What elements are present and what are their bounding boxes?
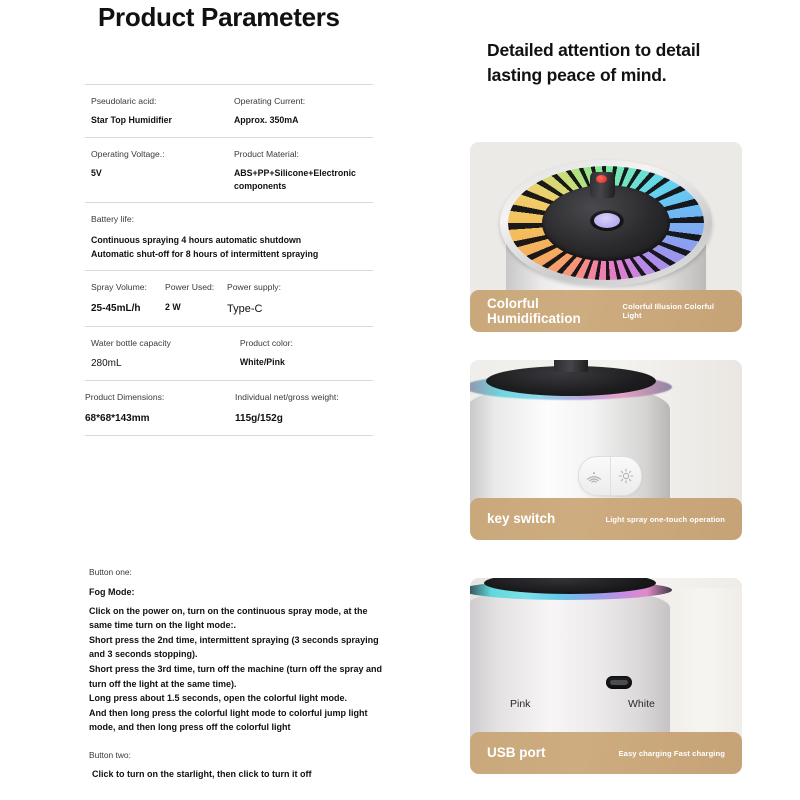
spec-cell: Product color: White/Pink bbox=[228, 337, 373, 371]
spec-label: Water bottle capacity bbox=[91, 337, 228, 349]
light-button[interactable] bbox=[610, 457, 642, 495]
feature-card-colorful-humidification: Colorful Humidification Colorful Illusio… bbox=[470, 142, 742, 332]
spec-label: Pseudolaric acid: bbox=[91, 95, 234, 107]
caption-title: Colorful Humidification bbox=[487, 296, 623, 326]
spec-row: Operating Voltage.: 5V Product Material:… bbox=[85, 137, 373, 203]
card-caption: USB port Easy charging Fast charging bbox=[470, 732, 742, 774]
spec-value: Automatic shut-off for 8 hours of interm… bbox=[91, 247, 373, 261]
light-icon bbox=[618, 468, 634, 484]
caption-subtitle: Easy charging Fast charging bbox=[618, 749, 725, 758]
spec-cell: Operating Current: Approx. 350mA bbox=[234, 95, 373, 128]
spec-label: Power Used: bbox=[165, 281, 227, 293]
spec-label: Operating Voltage.: bbox=[91, 148, 234, 160]
spec-value: Star Top Humidifier bbox=[91, 114, 234, 127]
spec-label: Product Dimensions: bbox=[85, 391, 235, 403]
spec-cell: Individual net/gross weight: 115g/152g bbox=[235, 391, 373, 425]
spec-label: Spray Volume: bbox=[91, 281, 165, 293]
headline: Detailed attention to detail lasting pea… bbox=[487, 38, 749, 88]
spec-row: Spray Volume: 25-45mL/h Power Used: 2 W … bbox=[85, 270, 373, 326]
card-caption: Colorful Humidification Colorful Illusio… bbox=[470, 290, 742, 332]
fog-mode-label: Fog Mode: bbox=[89, 587, 389, 597]
mist-icon bbox=[585, 470, 603, 483]
color-label-pink: Pink bbox=[510, 698, 530, 710]
spec-value: 5V bbox=[91, 167, 234, 180]
spec-label: Power supply: bbox=[227, 281, 327, 293]
spec-cell: Pseudolaric acid: Star Top Humidifier bbox=[85, 95, 234, 128]
card-caption: key switch Light spray one-touch operati… bbox=[470, 498, 742, 540]
spec-cell: Power Used: 2 W bbox=[165, 281, 227, 317]
mist-outlet bbox=[590, 210, 624, 231]
spec-value: 25-45mL/h bbox=[91, 301, 165, 316]
power-indicator-dot bbox=[596, 175, 607, 183]
instruction-line: Long press about 1.5 seconds, open the c… bbox=[89, 691, 389, 706]
instruction-line: Short press the 2nd time, intermittent s… bbox=[89, 633, 389, 662]
spec-label: Individual net/gross weight: bbox=[235, 391, 373, 403]
spec-value: 280mL bbox=[91, 356, 228, 371]
spec-value: 115g/152g bbox=[235, 411, 373, 426]
control-button-pill[interactable] bbox=[578, 456, 642, 496]
spec-value: Approx. 350mA bbox=[234, 114, 373, 127]
spec-table-bottom-rule bbox=[85, 435, 373, 436]
feature-card-key-switch: key switch Light spray one-touch operati… bbox=[470, 360, 742, 540]
product-detail-page: Product Parameters Pseudolaric acid: Sta… bbox=[0, 0, 800, 800]
button-one-label: Button one: bbox=[89, 566, 389, 579]
specifications-table: Pseudolaric acid: Star Top Humidifier Op… bbox=[85, 84, 373, 436]
spec-cell: Operating Voltage.: 5V bbox=[85, 148, 234, 194]
spec-value: White/Pink bbox=[240, 356, 373, 369]
spec-cell: Spray Volume: 25-45mL/h bbox=[85, 281, 165, 317]
color-label-white: White bbox=[628, 698, 655, 710]
spec-cell: Battery life: Continuous spraying 4 hour… bbox=[85, 213, 373, 261]
spec-label: Operating Current: bbox=[234, 95, 373, 107]
caption-title: USB port bbox=[487, 745, 546, 760]
spec-value: Continuous spraying 4 hours automatic sh… bbox=[91, 233, 373, 247]
spec-value: 2 W bbox=[165, 301, 227, 314]
spec-label: Battery life: bbox=[91, 213, 373, 225]
spec-value: ABS+PP+Silicone+Electronic components bbox=[234, 167, 373, 193]
instruction-lines: Click on the power on, turn on the conti… bbox=[89, 604, 389, 735]
led-ring bbox=[500, 160, 712, 286]
spec-row: Battery life: Continuous spraying 4 hour… bbox=[85, 202, 373, 270]
instruction-line: And then long press the colorful light m… bbox=[89, 706, 389, 735]
button-two-text: Click to turn on the starlight, then cli… bbox=[89, 767, 389, 782]
spec-row: Water bottle capacity 280mL Product colo… bbox=[85, 326, 373, 380]
instruction-line: Short press the 3rd time, turn off the m… bbox=[89, 662, 389, 691]
spec-label: Product color: bbox=[240, 337, 373, 349]
mist-button[interactable] bbox=[579, 457, 610, 495]
spec-cell: Power supply: Type-C bbox=[227, 281, 327, 317]
right-column: Detailed attention to detail lasting pea… bbox=[470, 0, 745, 800]
spec-row: Pseudolaric acid: Star Top Humidifier Op… bbox=[85, 84, 373, 137]
usb-c-port bbox=[606, 676, 632, 689]
instruction-line: Click on the power on, turn on the conti… bbox=[89, 604, 389, 633]
button-two-label: Button two: bbox=[89, 749, 389, 762]
page-title: Product Parameters bbox=[98, 2, 428, 33]
spec-value: 68*68*143mm bbox=[85, 411, 235, 426]
left-column: Product Parameters Pseudolaric acid: Sta… bbox=[0, 0, 440, 800]
caption-subtitle: Colorful Illusion Colorful Light bbox=[623, 302, 725, 320]
spec-value: Type-C bbox=[227, 301, 327, 318]
usage-instructions: Button one: Fog Mode: Click on the power… bbox=[89, 566, 389, 782]
spec-cell: Product Material: ABS+PP+Silicone+Electr… bbox=[234, 148, 373, 194]
spec-label: Product Material: bbox=[234, 148, 373, 160]
spec-row: Product Dimensions: 68*68*143mm Individu… bbox=[85, 380, 373, 434]
spec-cell: Product Dimensions: 68*68*143mm bbox=[85, 391, 235, 425]
caption-title: key switch bbox=[487, 511, 555, 526]
spec-cell: Water bottle capacity 280mL bbox=[85, 337, 228, 371]
nozzle bbox=[590, 172, 615, 198]
caption-subtitle: Light spray one-touch operation bbox=[605, 515, 725, 524]
feature-card-usb-port: Pink White USB port Easy charging Fast c… bbox=[470, 578, 742, 774]
